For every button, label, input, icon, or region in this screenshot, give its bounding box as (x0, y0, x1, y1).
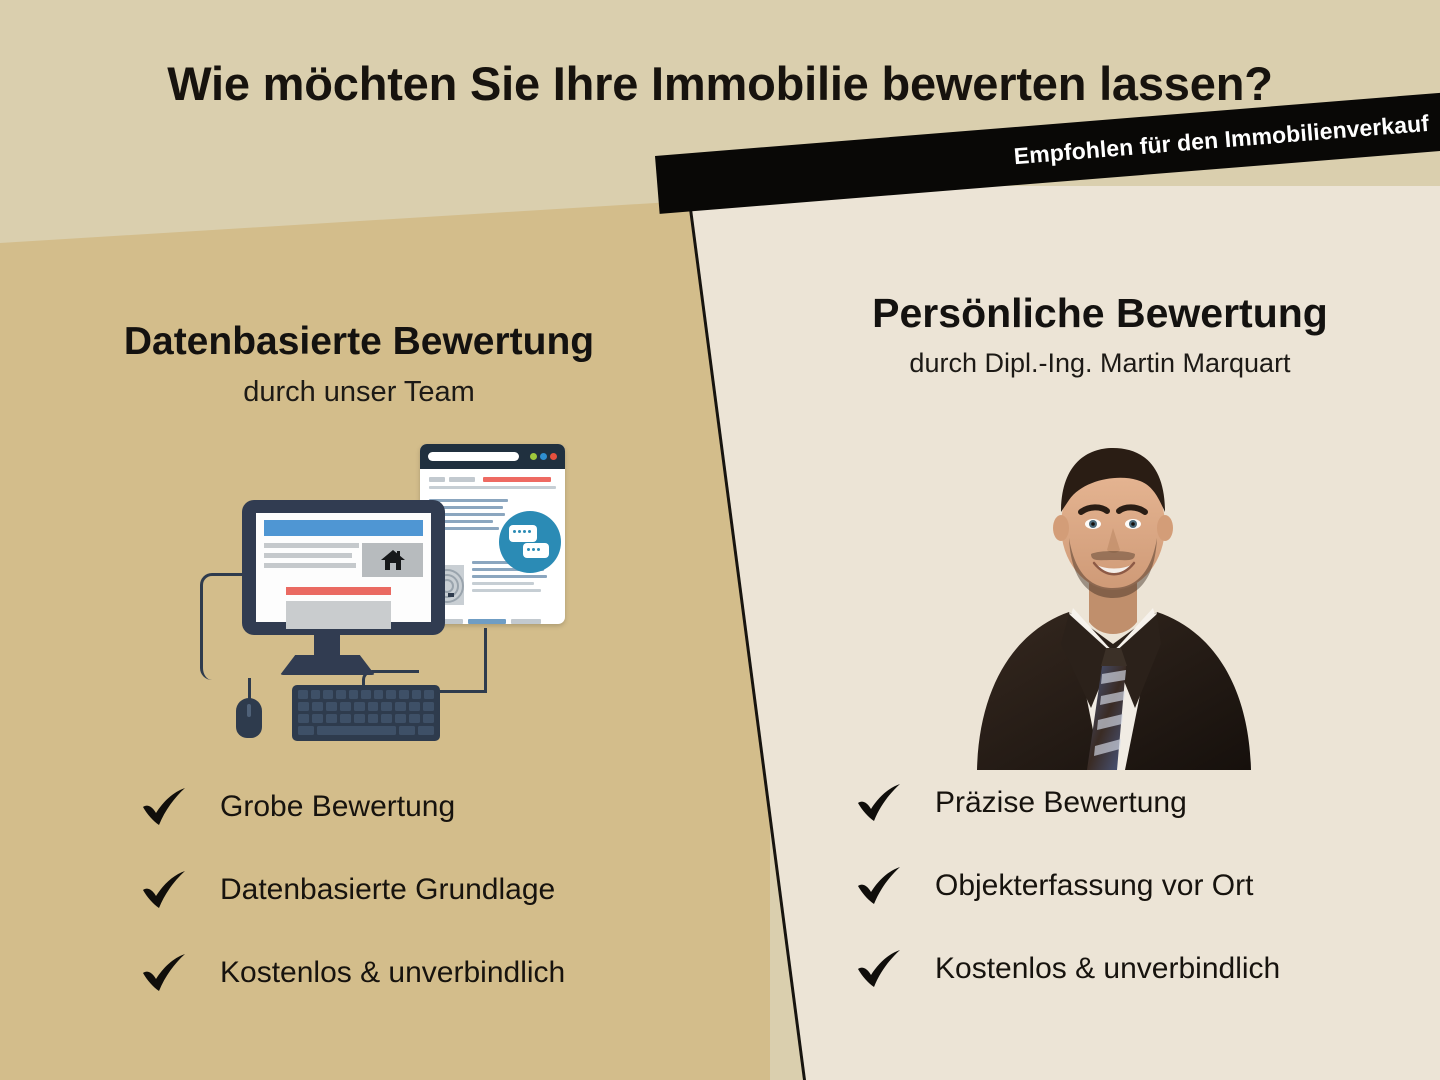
check-icon (855, 782, 907, 824)
monitor-screen (256, 513, 431, 622)
check-icon (855, 948, 907, 990)
list-item: Präzise Bewertung (855, 782, 1415, 824)
content-chip-accent (483, 477, 551, 482)
browser-titlebar (420, 444, 565, 469)
traffic-light-blue-icon (540, 453, 547, 460)
list-item-label: Datenbasierte Grundlage (220, 873, 555, 907)
list-item: Kostenlos & unverbindlich (140, 952, 700, 994)
list-item-label: Grobe Bewertung (220, 790, 455, 824)
mouse (236, 698, 262, 738)
list-item: Kostenlos & unverbindlich (855, 948, 1415, 990)
list-item: Datenbasierte Grundlage (140, 869, 700, 911)
check-icon (140, 952, 192, 994)
traffic-light-green-icon (530, 453, 537, 460)
content-chip (429, 477, 445, 482)
left-option-subtitle: durch unser Team (0, 376, 718, 409)
screen-accent-bar (286, 587, 391, 595)
check-icon (140, 786, 192, 828)
list-item: Objekterfassung vor Ort (855, 865, 1415, 907)
left-feature-list: Grobe Bewertung Datenbasierte Grundlage … (140, 786, 700, 1035)
right-option-title: Persönliche Bewertung (800, 290, 1400, 337)
browser-address-bar (428, 452, 519, 461)
content-chip (449, 477, 475, 482)
content-line (429, 486, 556, 489)
house-icon (380, 549, 406, 571)
desktop-computer-illustration (196, 440, 586, 765)
ribbon-label: Empfohlen für den Immobilienverkauf (1013, 109, 1430, 169)
traffic-light-red-icon (550, 453, 557, 460)
agent-portrait-photo (965, 408, 1261, 770)
list-item-label: Objekterfassung vor Ort (935, 869, 1253, 903)
content-row (429, 477, 556, 482)
list-item-label: Kostenlos & unverbindlich (935, 952, 1280, 986)
screen-content-block (286, 601, 391, 629)
keyboard (292, 685, 440, 741)
check-icon (855, 865, 907, 907)
screen-image-box (362, 543, 423, 577)
monitor-base (280, 655, 375, 675)
cable-right (414, 628, 487, 693)
screen-header-bar (264, 520, 423, 536)
check-icon (140, 869, 192, 911)
list-item: Grobe Bewertung (140, 786, 700, 828)
monitor (242, 500, 445, 635)
list-item-label: Kostenlos & unverbindlich (220, 956, 565, 990)
content-line (429, 499, 508, 502)
screen-text-lines (264, 543, 359, 568)
right-feature-list: Präzise Bewertung Objekterfassung vor Or… (855, 782, 1415, 1031)
page-title: Wie möchten Sie Ihre Immobilie bewerten … (0, 56, 1440, 111)
list-item-label: Präzise Bewertung (935, 786, 1187, 820)
left-option-title: Datenbasierte Bewertung (0, 320, 718, 364)
right-option-subtitle: durch Dipl.-Ing. Martin Marquart (800, 348, 1400, 379)
chat-bubbles-icon (499, 511, 561, 573)
comparison-graphic: Wie möchten Sie Ihre Immobilie bewerten … (0, 0, 1440, 1080)
